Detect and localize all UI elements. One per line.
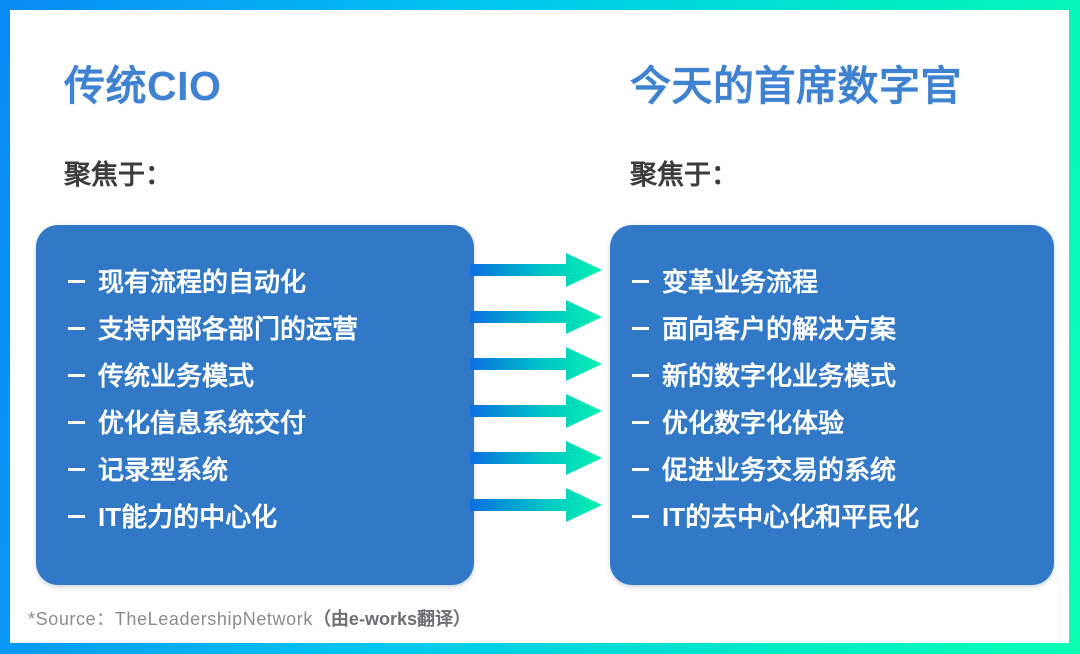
list-item: IT的去中心化和平民化 (610, 494, 1054, 541)
dash-bullet-icon (68, 421, 85, 424)
dash-bullet-icon (68, 280, 85, 283)
list-item-label: 记录型系统 (98, 447, 228, 494)
dash-bullet-icon (68, 515, 85, 518)
right-column-subtitle: 聚焦于： (630, 162, 738, 189)
dash-bullet-icon (632, 468, 649, 471)
list-item: 新的数字化业务模式 (610, 353, 1054, 400)
source-note: （由e-works翻译） (313, 609, 471, 629)
dash-bullet-icon (632, 374, 649, 377)
dash-bullet-icon (68, 468, 85, 471)
right-list-card: 变革业务流程 面向客户的解决方案 新的数字化业务模式 优化数字化体验 促进业务交… (610, 225, 1054, 585)
list-item-label: 变革业务流程 (662, 259, 818, 306)
list-item-label: 优化数字化体验 (662, 400, 844, 447)
list-item-label: 现有流程的自动化 (98, 259, 306, 306)
list-item: 优化数字化体验 (610, 400, 1054, 447)
list-item-label: 面向客户的解决方案 (662, 306, 896, 353)
list-item-label: 支持内部各部门的运营 (98, 306, 358, 353)
dash-bullet-icon (68, 327, 85, 330)
list-item: 变革业务流程 (610, 259, 1054, 306)
dash-bullet-icon (632, 421, 649, 424)
dash-bullet-icon (632, 515, 649, 518)
list-item-label: 促进业务交易的系统 (662, 447, 896, 494)
list-item: 优化信息系统交付 (36, 400, 474, 447)
transition-arrows (470, 253, 610, 553)
right-arrow-icon (470, 347, 602, 381)
slide-gradient-frame: 传统CIO 聚焦于： 今天的首席数字官 聚焦于： 现有流程的自动化 支持内部各部… (0, 0, 1080, 654)
list-item: IT能力的中心化 (36, 494, 474, 541)
left-list-card: 现有流程的自动化 支持内部各部门的运营 传统业务模式 优化信息系统交付 记录型系… (36, 225, 474, 585)
right-column-title: 今天的首席数字官 (630, 66, 962, 107)
dash-bullet-icon (632, 327, 649, 330)
list-item-label: 优化信息系统交付 (98, 400, 306, 447)
source-attribution: *Source：TheLeadershipNetwork（由e-works翻译） (28, 605, 471, 631)
right-arrow-icon (470, 441, 602, 475)
right-arrow-icon (470, 394, 602, 428)
left-column-title: 传统CIO (64, 66, 221, 107)
list-item: 传统业务模式 (36, 353, 474, 400)
list-item-label: IT能力的中心化 (98, 494, 277, 541)
left-list: 现有流程的自动化 支持内部各部门的运营 传统业务模式 优化信息系统交付 记录型系… (36, 259, 474, 541)
list-item: 现有流程的自动化 (36, 259, 474, 306)
source-prefix: *Source：TheLeadershipNetwork (28, 609, 313, 629)
slide-canvas: 传统CIO 聚焦于： 今天的首席数字官 聚焦于： 现有流程的自动化 支持内部各部… (10, 10, 1069, 643)
right-list: 变革业务流程 面向客户的解决方案 新的数字化业务模式 优化数字化体验 促进业务交… (610, 259, 1054, 541)
dash-bullet-icon (632, 280, 649, 283)
list-item-label: IT的去中心化和平民化 (662, 494, 919, 541)
list-item-label: 传统业务模式 (98, 353, 254, 400)
list-item: 面向客户的解决方案 (610, 306, 1054, 353)
list-item-label: 新的数字化业务模式 (662, 353, 896, 400)
right-arrow-icon (470, 253, 602, 287)
dash-bullet-icon (68, 374, 85, 377)
right-arrow-icon (470, 300, 602, 334)
right-arrow-icon (470, 488, 602, 522)
list-item: 促进业务交易的系统 (610, 447, 1054, 494)
list-item: 记录型系统 (36, 447, 474, 494)
left-column-subtitle: 聚焦于： (64, 162, 172, 189)
list-item: 支持内部各部门的运营 (36, 306, 474, 353)
headings-row: 传统CIO 聚焦于： 今天的首席数字官 聚焦于： (10, 10, 1069, 226)
